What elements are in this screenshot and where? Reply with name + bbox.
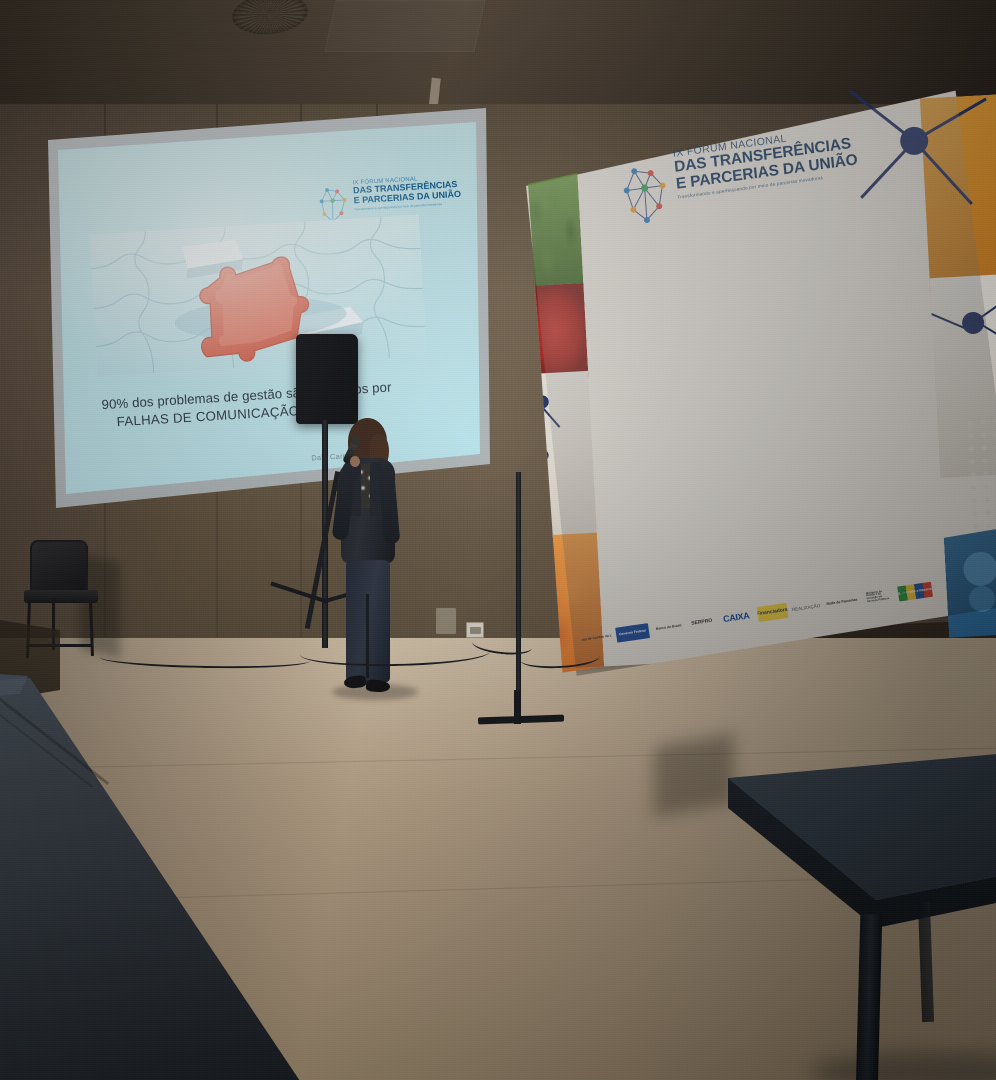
event-backdrop-banner: IX FÓRUM NACIONAL DAS TRANSFERÊNCIAS E P…	[486, 84, 996, 671]
projection-screen: IX FÓRUM NACIONAL DAS TRANSFERÊNCIAS E P…	[50, 120, 480, 494]
presenter-person	[322, 418, 414, 710]
dark-table-corner	[700, 752, 996, 1080]
slide-logo-text: IX FÓRUM NACIONAL DAS TRANSFERÊNCIAS E P…	[352, 174, 466, 212]
network-link	[516, 394, 540, 407]
network-node-dot	[536, 449, 549, 462]
jigsaw-puzzle-illustration-icon	[89, 214, 427, 376]
table-leg	[856, 914, 883, 1080]
table-leg	[918, 902, 934, 1022]
ceiling-panel	[324, 0, 485, 52]
network-node-dot	[535, 395, 549, 409]
presenter-hand	[350, 456, 360, 467]
microphone-stand-pole	[516, 472, 521, 720]
presentation-slide: IX FÓRUM NACIONAL DAS TRANSFERÊNCIAS E P…	[50, 120, 480, 494]
wall-panel-plate	[436, 608, 456, 634]
table-floor-shadow	[810, 1052, 996, 1080]
pa-loudspeaker	[296, 334, 358, 424]
conference-room-photo: IX FÓRUM NACIONAL DAS TRANSFERÊNCIAS E P…	[0, 0, 996, 1080]
chair-seat	[24, 590, 98, 603]
chair-backrest	[30, 540, 88, 592]
